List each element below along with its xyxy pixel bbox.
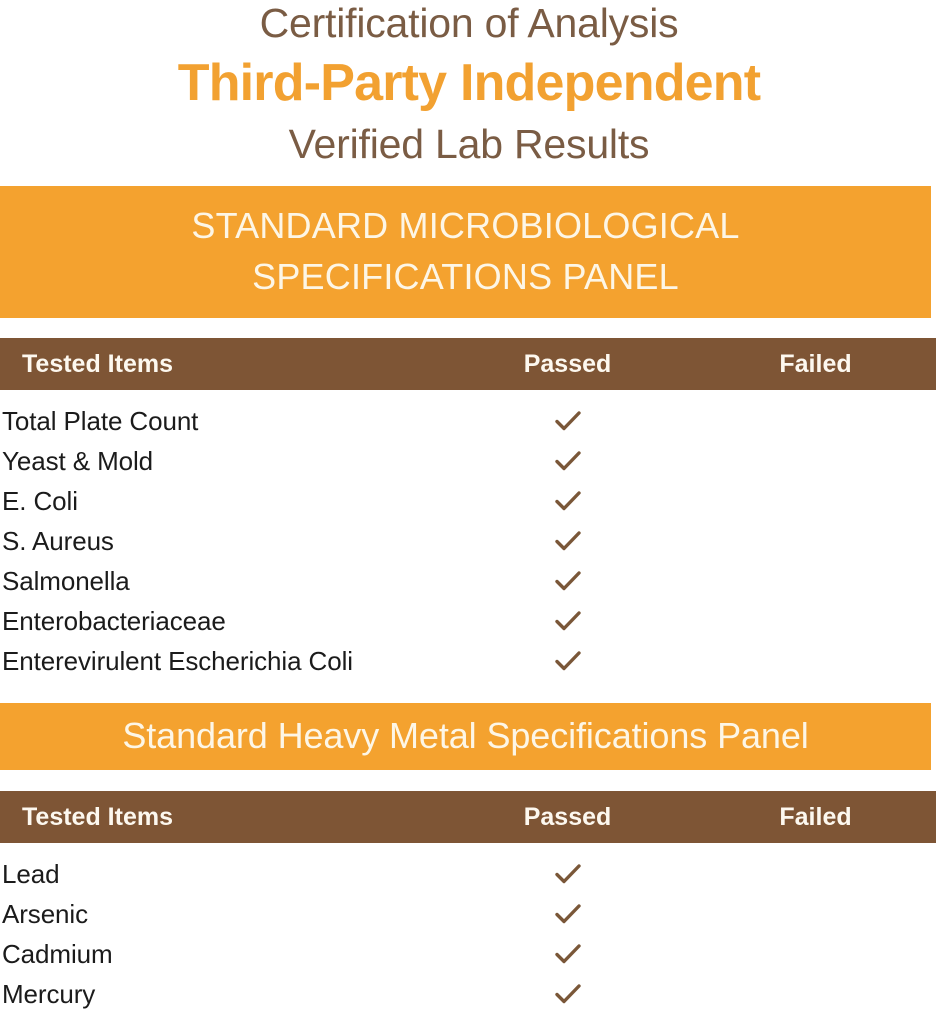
table-header-heavy-metal: Tested Items Passed Failed — [0, 791, 936, 843]
panel-title-microbiological: STANDARD MICROBIOLOGICAL SPECIFICATIONS … — [0, 186, 931, 318]
table-row: Enterevirulent Escherichia Coli — [0, 641, 936, 681]
table-row: S. Aureus — [0, 521, 936, 561]
passed-cell — [440, 648, 695, 674]
check-icon — [553, 608, 583, 634]
column-header-tested-items: Tested Items — [0, 350, 440, 379]
panel-title-microbiological-line1: STANDARD MICROBIOLOGICAL — [20, 200, 911, 251]
tested-item-name: Lead — [0, 859, 440, 890]
page-title-line1: Certification of Analysis — [0, 0, 938, 46]
tested-item-name: Enterobacteriaceae — [0, 606, 440, 637]
check-icon — [553, 448, 583, 474]
passed-cell — [440, 901, 695, 927]
check-icon — [553, 981, 583, 1007]
page-title-line2: Third-Party Independent — [0, 46, 938, 114]
column-header-passed: Passed — [440, 350, 695, 379]
tested-item-name: Mercury — [0, 979, 440, 1010]
check-icon — [553, 901, 583, 927]
passed-cell — [440, 448, 695, 474]
passed-cell — [440, 568, 695, 594]
table-row: Salmonella — [0, 561, 936, 601]
check-icon — [553, 528, 583, 554]
tested-item-name: Cadmium — [0, 939, 440, 970]
table-row: Cadmium — [0, 934, 936, 974]
passed-cell — [440, 941, 695, 967]
check-icon — [553, 941, 583, 967]
passed-cell — [440, 408, 695, 434]
tested-item-name: Total Plate Count — [0, 406, 440, 437]
tested-item-name: Yeast & Mold — [0, 446, 440, 477]
table-header-microbiological: Tested Items Passed Failed — [0, 338, 936, 390]
masthead: Certification of Analysis Third-Party In… — [0, 0, 938, 168]
passed-cell — [440, 608, 695, 634]
table-row: Mercury — [0, 974, 936, 1014]
certificate-of-analysis-page: Certification of Analysis Third-Party In… — [0, 0, 938, 1024]
tested-item-name: Arsenic — [0, 899, 440, 930]
passed-cell — [440, 528, 695, 554]
check-icon — [553, 861, 583, 887]
check-icon — [553, 408, 583, 434]
table-row: Yeast & Mold — [0, 441, 936, 481]
passed-cell — [440, 981, 695, 1007]
page-title-line3: Verified Lab Results — [0, 114, 938, 168]
table-row: E. Coli — [0, 481, 936, 521]
column-header-tested-items: Tested Items — [0, 803, 440, 832]
column-header-passed: Passed — [440, 803, 695, 832]
table-row: Total Plate Count — [0, 401, 936, 441]
table-body-heavy-metal: Lead Arsenic Cadmium Mercury — [0, 843, 936, 1014]
table-row: Enterobacteriaceae — [0, 601, 936, 641]
passed-cell — [440, 861, 695, 887]
panel-title-microbiological-line2: SPECIFICATIONS PANEL — [20, 251, 911, 302]
tested-item-name: Salmonella — [0, 566, 440, 597]
table-row: Arsenic — [0, 894, 936, 934]
passed-cell — [440, 488, 695, 514]
column-header-failed: Failed — [695, 803, 936, 832]
check-icon — [553, 568, 583, 594]
panel-title-heavy-metal: Standard Heavy Metal Specifications Pane… — [0, 703, 931, 770]
tested-item-name: S. Aureus — [0, 526, 440, 557]
check-icon — [553, 648, 583, 674]
column-header-failed: Failed — [695, 350, 936, 379]
check-icon — [553, 488, 583, 514]
tested-item-name: E. Coli — [0, 486, 440, 517]
table-row: Lead — [0, 854, 936, 894]
tested-item-name: Enterevirulent Escherichia Coli — [0, 646, 440, 677]
table-body-microbiological: Total Plate Count Yeast & Mold E. Coli S… — [0, 390, 936, 681]
panel-title-heavy-metal-line1: Standard Heavy Metal Specifications Pane… — [20, 714, 911, 758]
